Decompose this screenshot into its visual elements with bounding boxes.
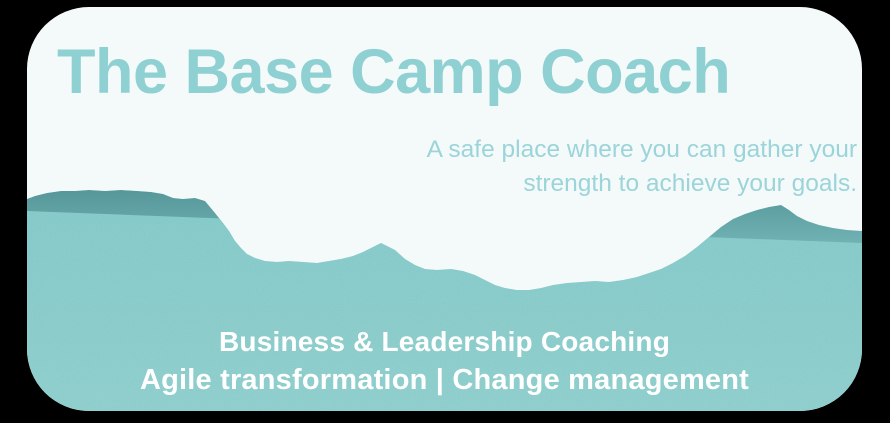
banner-tagline: Business & Leadership Coaching Agile tra… [27,323,862,400]
tagline-line-1: Business & Leadership Coaching [27,323,862,361]
page-title: The Base Camp Coach [57,37,847,107]
banner-subtitle: A safe place where you can gather your s… [147,133,857,201]
banner-root: The Base Camp Coach A safe place where y… [0,0,890,423]
subtitle-line-2: strength to achieve your goals. [147,167,857,201]
banner-text-stack: The Base Camp Coach A safe place where y… [27,7,862,411]
banner-card: The Base Camp Coach A safe place where y… [27,7,862,411]
tagline-line-2: Agile transformation | Change management [27,361,862,400]
subtitle-line-1: A safe place where you can gather your [147,133,857,167]
